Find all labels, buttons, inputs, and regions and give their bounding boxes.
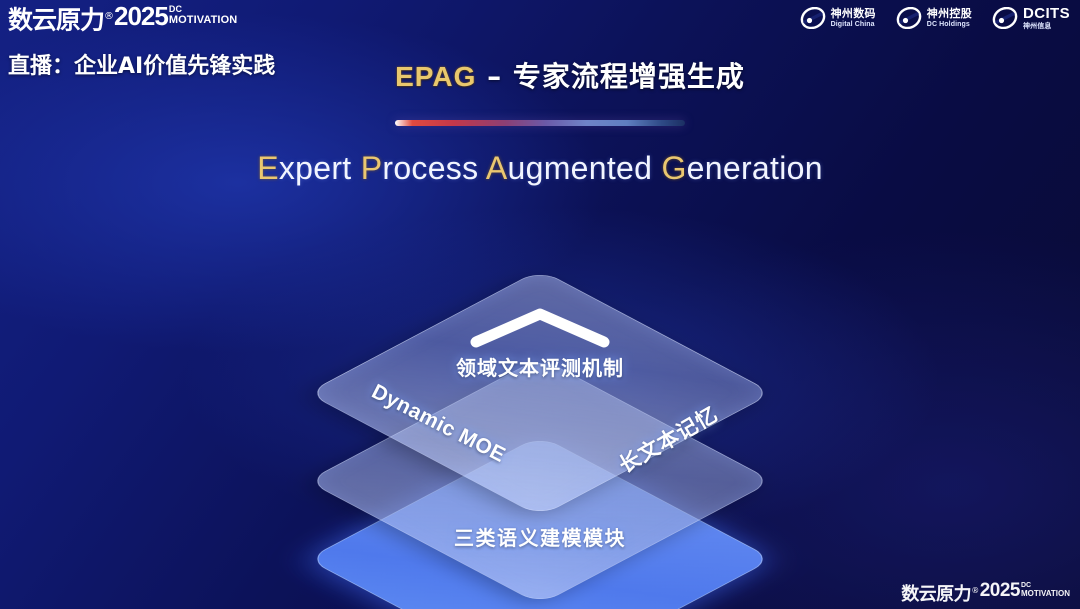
brand-sub: DC MOTIVATION [169,5,237,26]
layered-stack-diagram: 领域文本评测机制 Dynamic MOE 长文本记忆 三类语义建模模块 [305,244,775,574]
registered-mark-icon: ® [971,586,979,595]
watermark-sub-line1: DC [1021,582,1070,589]
subtitle-rest-expert: xpert [279,150,352,186]
swoosh-logo-icon [992,7,1018,29]
partner-text: DCITS 神州信息 [1023,6,1070,30]
gradient-divider [395,120,685,126]
watermark-year: 2025 [980,580,1020,601]
subtitle-cap-e: E [257,150,279,186]
partner-name-cn: 神州数码 [831,8,876,19]
brand-year: 2025 [114,2,168,31]
slide-canvas: 数云原力® 2025 DC MOTIVATION 直播：企业AI价值先锋实践 神… [0,0,1080,609]
brand-sub-line2: MOTIVATION [169,15,237,26]
registered-mark-icon: ® [104,11,113,22]
page-title: EPAG – 专家流程增强生成 [0,55,1080,95]
partner-logo-digital-china: 神州数码 Digital China [800,7,876,29]
subtitle: Expert Process Augmented Generation [0,150,1080,187]
swoosh-logo-icon [800,7,826,29]
partner-logo-dc-holdings: 神州控股 DC Holdings [896,7,972,29]
chevron-up-icon [466,304,614,350]
title-acronym: EPAG [395,61,476,92]
partner-logo-group: 神州数码 Digital China 神州控股 DC Holdings [800,6,1070,30]
partner-text: 神州数码 Digital China [831,8,876,28]
subtitle-cap-p: P [361,150,383,186]
title-separator: – [476,60,513,93]
subtitle-cap-g: G [661,150,686,186]
stack-layer-top[interactable] [375,228,705,558]
partner-name-en: Digital China [831,21,876,28]
subtitle-rest-augmented: ugmented [508,150,653,186]
watermark-logo: 数云原力® 2025 DC MOTIVATION [901,580,1070,605]
partner-name-cn: 神州信息 [1023,23,1070,30]
partner-name-en: DCITS [1023,6,1070,21]
subtitle-rest-generation: eneration [687,150,823,186]
partner-logo-dcits: DCITS 神州信息 [992,6,1070,30]
partner-text: 神州控股 DC Holdings [927,8,972,28]
watermark-name-cn: 数云原力® [901,580,979,605]
stack-label-bottom: 三类语义建模模块 [454,522,626,551]
brand-sub-line1: DC [169,5,237,14]
partner-name-en: DC Holdings [927,21,972,28]
watermark-sub: DC MOTIVATION [1021,582,1070,598]
partner-name-cn: 神州控股 [927,8,972,19]
title-chinese: 专家流程增强生成 [513,60,745,93]
watermark-sub-line2: MOTIVATION [1021,590,1070,598]
stack-label-top: 领域文本评测机制 [456,352,624,381]
brand-name-cn: 数云原力® [8,2,113,34]
subtitle-rest-process: rocess [382,150,478,186]
subtitle-cap-a: A [486,150,508,186]
swoosh-logo-icon [896,7,922,29]
brand-logo: 数云原力® 2025 DC MOTIVATION [8,2,237,34]
